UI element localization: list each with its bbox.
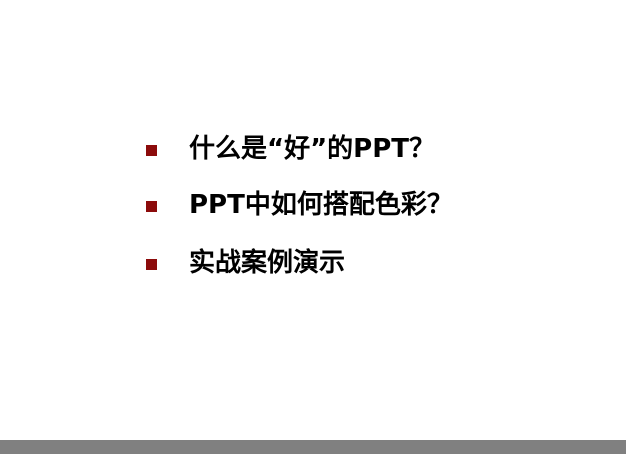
bullet-list: 什么是“好”的PPT？ PPT中如何搭配色彩？ 实战案例演示 — [0, 0, 626, 466]
list-item[interactable]: 实战案例演示 — [146, 246, 345, 280]
bullet-item-label: 什么是“好”的PPT？ — [189, 132, 435, 166]
square-bullet-icon — [146, 145, 157, 156]
bullet-item-label: PPT中如何搭配色彩？ — [189, 188, 453, 222]
square-bullet-icon — [146, 201, 157, 212]
footer-divider-bar — [0, 440, 626, 454]
square-bullet-icon — [146, 259, 157, 270]
list-item[interactable]: PPT中如何搭配色彩？ — [146, 188, 453, 222]
list-item[interactable]: 什么是“好”的PPT？ — [146, 132, 435, 166]
slide-canvas: 什么是“好”的PPT？ PPT中如何搭配色彩？ 实战案例演示 — [0, 0, 626, 466]
bullet-item-label: 实战案例演示 — [189, 246, 345, 280]
